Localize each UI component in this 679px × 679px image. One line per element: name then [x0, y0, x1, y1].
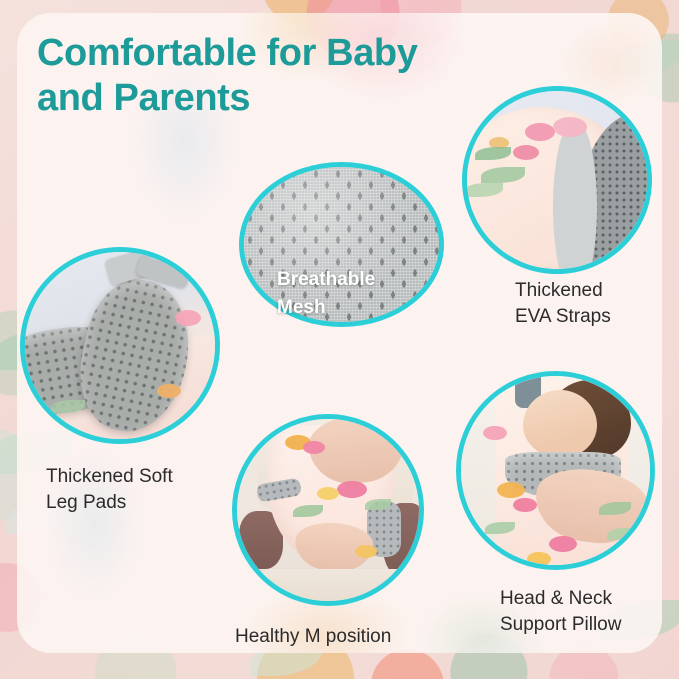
feature-thickened-eva-straps-label: Thickened EVA Straps — [515, 278, 679, 329]
flower-decoration — [355, 545, 377, 558]
flower-decoration — [157, 384, 181, 398]
page-title-line-2: and Parents — [37, 76, 507, 121]
leg-pads-image — [25, 252, 215, 439]
feature-thickened-soft-leg-pads-label: Thickened Soft Leg Pads — [46, 464, 246, 515]
flower-decoration — [513, 498, 537, 512]
feature-healthy-m-position-photo — [232, 414, 424, 606]
flower-decoration — [483, 426, 507, 440]
flower-decoration — [337, 481, 367, 498]
eva-strap-image — [467, 91, 647, 269]
feature-head-neck-support-pillow-label: Head & Neck Support Pillow — [500, 586, 679, 637]
flower-decoration — [527, 552, 551, 566]
feature-thickened-eva-straps-photo — [462, 86, 652, 274]
flower-decoration — [513, 145, 539, 160]
infographic-root: Comfortable for Baby and Parents Breatha… — [0, 0, 679, 679]
flower-decoration — [525, 123, 555, 141]
baby-head — [523, 390, 597, 458]
feature-thickened-soft-leg-pads-photo — [20, 247, 220, 444]
leaf-decoration — [51, 400, 85, 413]
page-title: Comfortable for Baby and Parents — [37, 31, 507, 121]
flower-decoration — [175, 310, 201, 326]
flower-decoration — [549, 536, 577, 552]
flower-decoration — [497, 482, 525, 498]
flower-decoration — [303, 441, 325, 454]
leg-pad-right — [68, 271, 201, 441]
flower-decoration — [553, 117, 587, 137]
feature-healthy-m-position-label: Healthy M position — [235, 624, 465, 650]
head-neck-pillow-image — [461, 376, 650, 565]
feature-head-neck-support-pillow-photo — [456, 371, 655, 570]
m-position-image — [237, 419, 419, 601]
parent-pants — [261, 569, 411, 606]
flower-decoration — [317, 487, 339, 500]
feature-breathable-mesh-label: Breathable Mesh — [277, 266, 447, 321]
page-title-line-1: Comfortable for Baby — [37, 31, 507, 76]
